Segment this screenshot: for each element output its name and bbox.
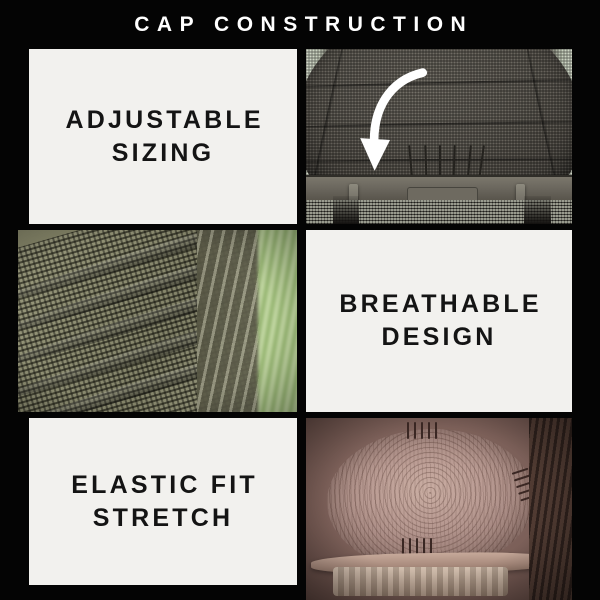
hair-strand-right: [524, 196, 551, 224]
header-bar: CAP CONSTRUCTION: [0, 0, 600, 49]
mesh-netting-photo: [18, 230, 297, 412]
hair-strand-left: [333, 196, 360, 224]
feature-label-breathable-design: BREATHABLE DESIGN: [336, 288, 542, 354]
wig-cap-interior-photo: [306, 418, 572, 600]
feature-card-adjustable-sizing: ADJUSTABLE SIZING: [29, 49, 297, 224]
photo-vignette: [306, 418, 572, 600]
feature-label-adjustable-sizing: ADJUSTABLE SIZING: [62, 104, 263, 170]
feature-photo-adjustable-straps: [306, 49, 572, 224]
feature-label-elastic-fit-stretch: ELASTIC FIT STRETCH: [68, 469, 258, 535]
photo-vignette: [18, 230, 297, 412]
feature-card-elastic-fit-stretch: ELASTIC FIT STRETCH: [29, 418, 297, 585]
feature-photo-breathable-mesh: [18, 230, 297, 412]
feature-card-breathable-design: BREATHABLE DESIGN: [306, 230, 572, 412]
page-title: CAP CONSTRUCTION: [127, 14, 473, 35]
feature-photo-cap-interior: [306, 418, 572, 600]
cap-construction-infographic: CAP CONSTRUCTION ADJUSTABLE SIZING: [0, 0, 600, 600]
wig-cap-back-photo: [306, 49, 572, 224]
